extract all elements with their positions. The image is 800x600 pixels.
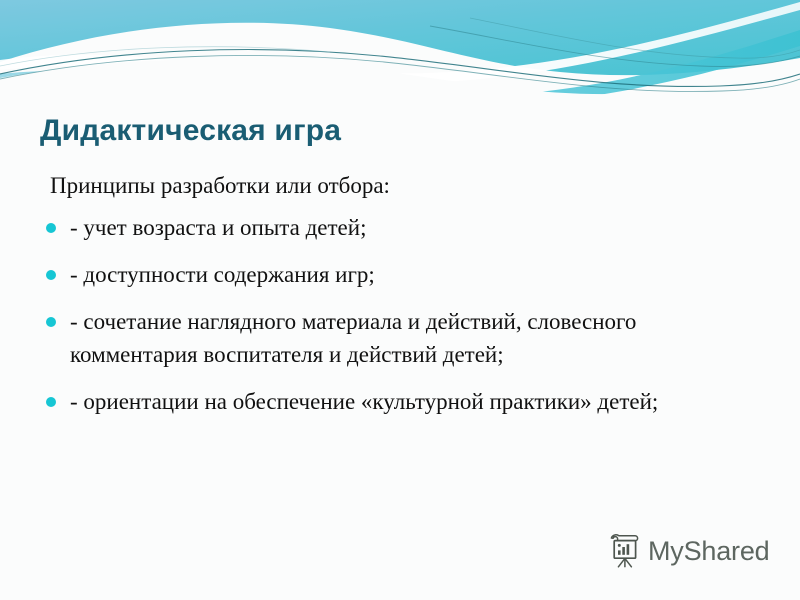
- myshared-label: MyShared: [648, 536, 769, 566]
- list-item-label: - ориентации на обеспечение «культурной …: [70, 385, 764, 418]
- header-wave-graphic: [0, 0, 800, 112]
- list-item: - сочетание наглядного материала и дейст…: [44, 305, 764, 371]
- bullet-dot-icon: [46, 270, 56, 280]
- principles-list: - учет возраста и опыта детей; - доступн…: [44, 211, 764, 418]
- intro-text: Принципы разработки или отбора:: [44, 170, 764, 201]
- bullet-dot-icon: [46, 317, 56, 327]
- list-item-label: - доступности содержания игр;: [70, 258, 764, 291]
- slide-body: Принципы разработки или отбора: - учет в…: [44, 170, 764, 418]
- list-item: - доступности содержания игр;: [44, 258, 764, 291]
- list-item-label: - учет возраста и опыта детей;: [70, 211, 764, 244]
- list-item: - ориентации на обеспечение «культурной …: [44, 385, 764, 418]
- presentation-slide: Дидактическая игра Принципы разработки и…: [0, 0, 800, 600]
- bullet-dot-icon: [46, 397, 56, 407]
- slide-title: Дидактическая игра: [40, 112, 740, 150]
- presentation-board-icon: [607, 533, 641, 569]
- header-wave-banner: [0, 0, 800, 112]
- list-item: - учет возраста и опыта детей;: [44, 211, 764, 244]
- myshared-watermark: MyShared: [607, 533, 769, 569]
- bullet-dot-icon: [46, 223, 56, 233]
- list-item-label: - сочетание наглядного материала и дейст…: [70, 305, 764, 371]
